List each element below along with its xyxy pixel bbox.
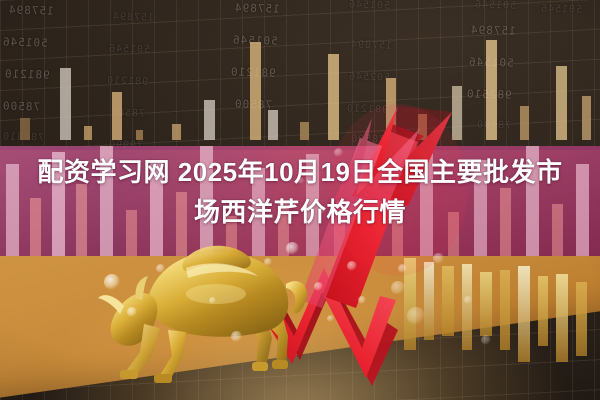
bokeh-light [347,261,357,271]
bokeh-light [231,331,242,342]
bokeh-light [391,281,405,295]
bokeh-light [433,253,444,264]
bokeh-light [156,264,165,273]
bokeh-light [334,148,343,157]
bokeh-light [286,242,299,255]
bokeh-light [318,206,326,214]
bokeh-light [327,315,334,322]
bokeh-light [264,258,272,266]
bokeh-light [407,307,425,325]
image-canvas: 1578945015469812107850078981015789450154… [0,0,600,400]
bokeh-light [314,282,323,291]
bokeh-light [104,274,120,290]
bokeh-light [464,296,472,304]
bokeh-light [481,335,491,345]
bokeh-light [127,307,137,317]
bokeh-light [358,296,366,304]
bokeh-light [398,264,407,273]
bokeh-light-layer [0,0,600,400]
bokeh-light [297,177,304,184]
bokeh-light [209,297,216,304]
